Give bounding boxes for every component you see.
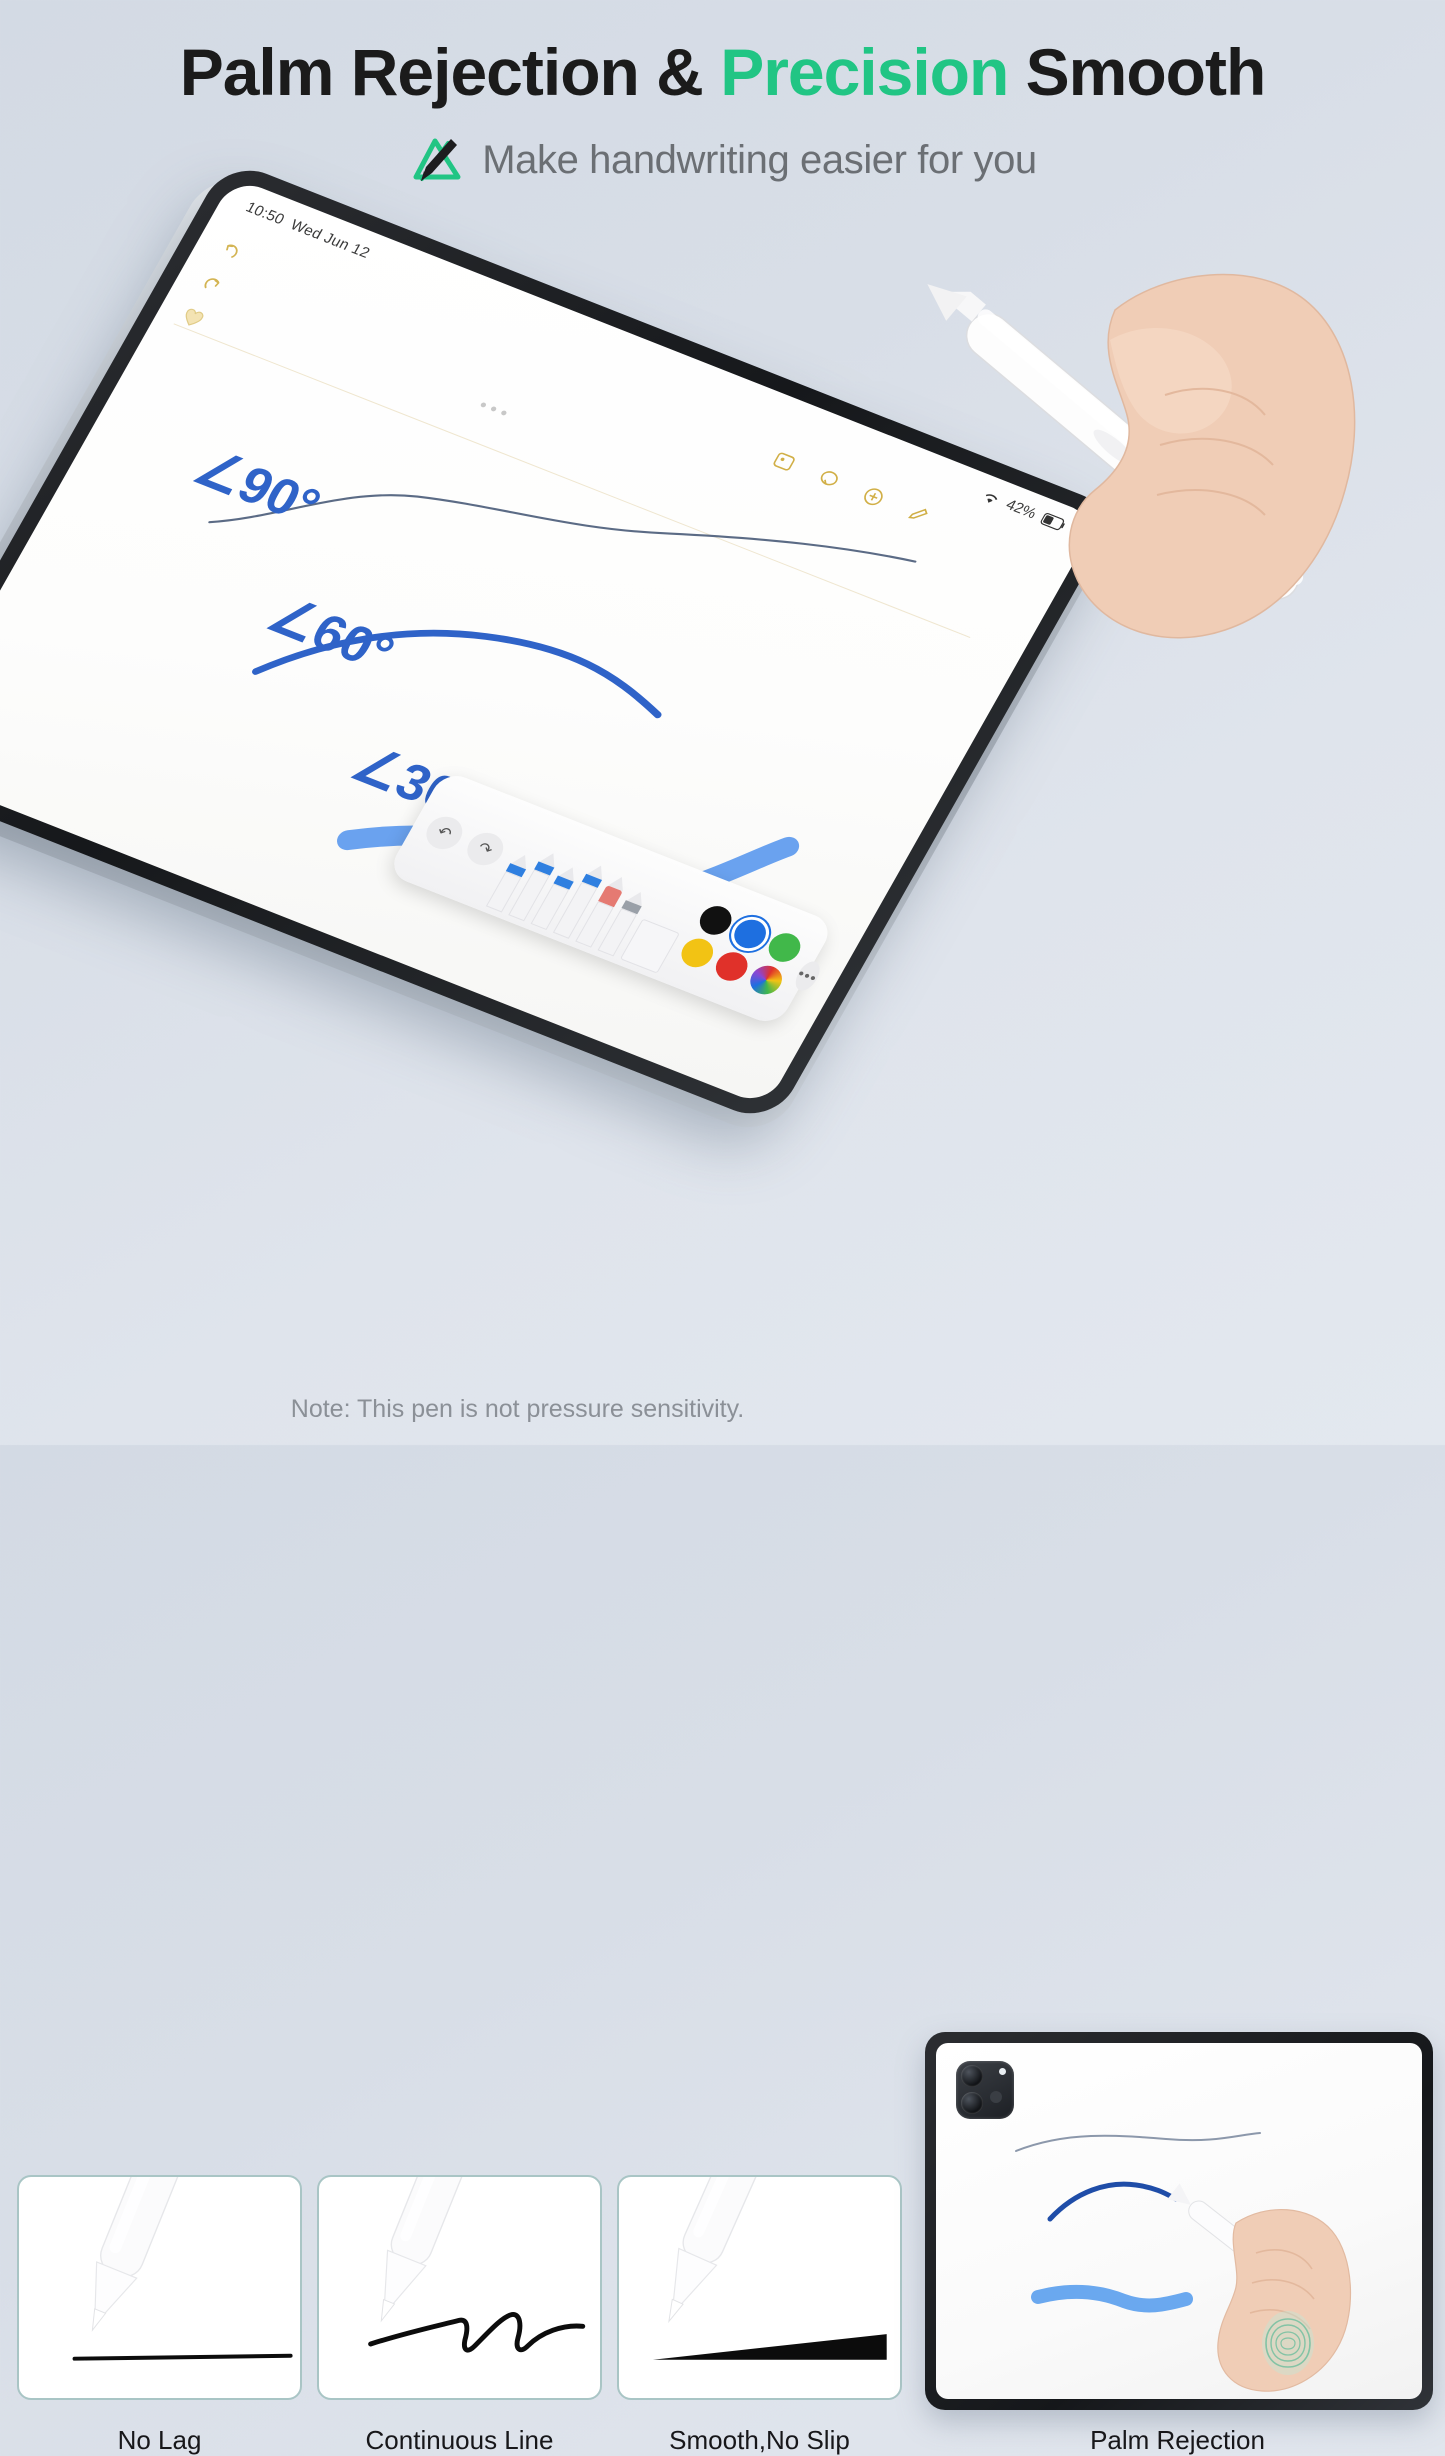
pr-hand (1218, 2210, 1351, 2392)
footer-note: Note: This pen is not pressure sensitivi… (0, 1395, 1445, 1424)
hand-holding-stylus: PenStudio (865, 190, 1385, 710)
stylus-straight-line-illustration (19, 2177, 300, 2398)
card-smooth-no-slip (617, 2175, 902, 2400)
card-label-continuous-line: Continuous Line (317, 2425, 602, 2456)
swatch-blue[interactable] (729, 915, 772, 952)
card-label-palm-rejection: Palm Rejection (925, 2425, 1430, 2456)
pr-stroke-dark (1050, 2184, 1176, 2219)
swatch-black[interactable] (695, 901, 738, 938)
swatch-rainbow[interactable] (745, 961, 788, 998)
hero-scene: 10:50 Wed Jun 12 42% (0, 0, 1445, 1445)
drawn-zigzag (371, 2314, 583, 2350)
card-no-lag (17, 2175, 302, 2400)
footer-note-text: Note: This pen is not pressure sensitivi… (291, 1395, 744, 1424)
pr-stroke-light (1038, 2292, 1186, 2306)
stroke-thin-90 (209, 327, 915, 757)
swatch-red[interactable] (711, 947, 754, 984)
fingerprint-mark (1262, 2311, 1314, 2375)
drawn-line (75, 2356, 291, 2359)
palm-rejection-screen (936, 2043, 1422, 2399)
feature-cards-row: No Lag Continuous Line Smooth,No Slip Pa… (0, 1080, 1445, 1445)
swatch-yellow[interactable] (676, 934, 719, 971)
card-label-smooth-no-slip: Smooth,No Slip (617, 2425, 902, 2456)
card-label-no-lag: No Lag (17, 2425, 302, 2456)
palette-undo-redo-group[interactable]: ↶ ↷ (420, 812, 509, 870)
color-swatches[interactable] (676, 901, 806, 998)
pr-stroke-thin (1016, 2133, 1260, 2151)
redo-button[interactable]: ↷ (461, 828, 510, 870)
drawn-wedge (653, 2334, 887, 2360)
stylus-zigzag-line-illustration (319, 2177, 600, 2398)
palm-rejection-canvas (936, 2043, 1422, 2399)
swatch-green[interactable] (763, 928, 806, 965)
undo-button[interactable]: ↶ (420, 812, 469, 854)
card-palm-rejection (925, 2032, 1433, 2410)
card-continuous-line (317, 2175, 602, 2400)
stylus-wedge-line-illustration (619, 2177, 900, 2398)
